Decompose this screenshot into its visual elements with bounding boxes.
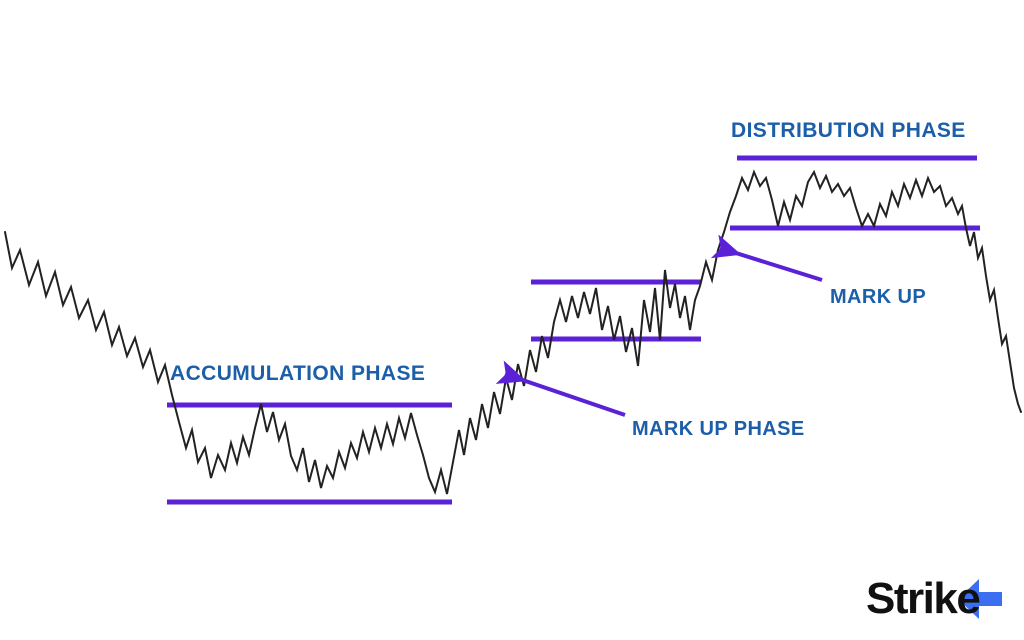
strike-logo: Strike: [866, 573, 1014, 625]
chart-canvas: ACCUMULATION PHASE DISTRIBUTION PHASE MA…: [0, 0, 1024, 640]
logo-chevron-bar-icon: [976, 592, 1002, 606]
markup-phase-label: MARK UP PHASE: [632, 418, 805, 441]
distribution-phase-label: DISTRIBUTION PHASE: [731, 119, 966, 143]
accumulation-phase-label: ACCUMULATION PHASE: [170, 362, 425, 386]
markup-annotation-arrow-icon: [720, 248, 822, 280]
markup-label: MARK UP: [830, 286, 926, 309]
price-line: [5, 172, 1021, 494]
price-chart-svg: [0, 0, 1024, 640]
logo-wordmark: Strike: [866, 574, 979, 623]
price-series-price: [5, 172, 1021, 494]
markup-phase-annotation-arrow-icon: [505, 374, 625, 415]
